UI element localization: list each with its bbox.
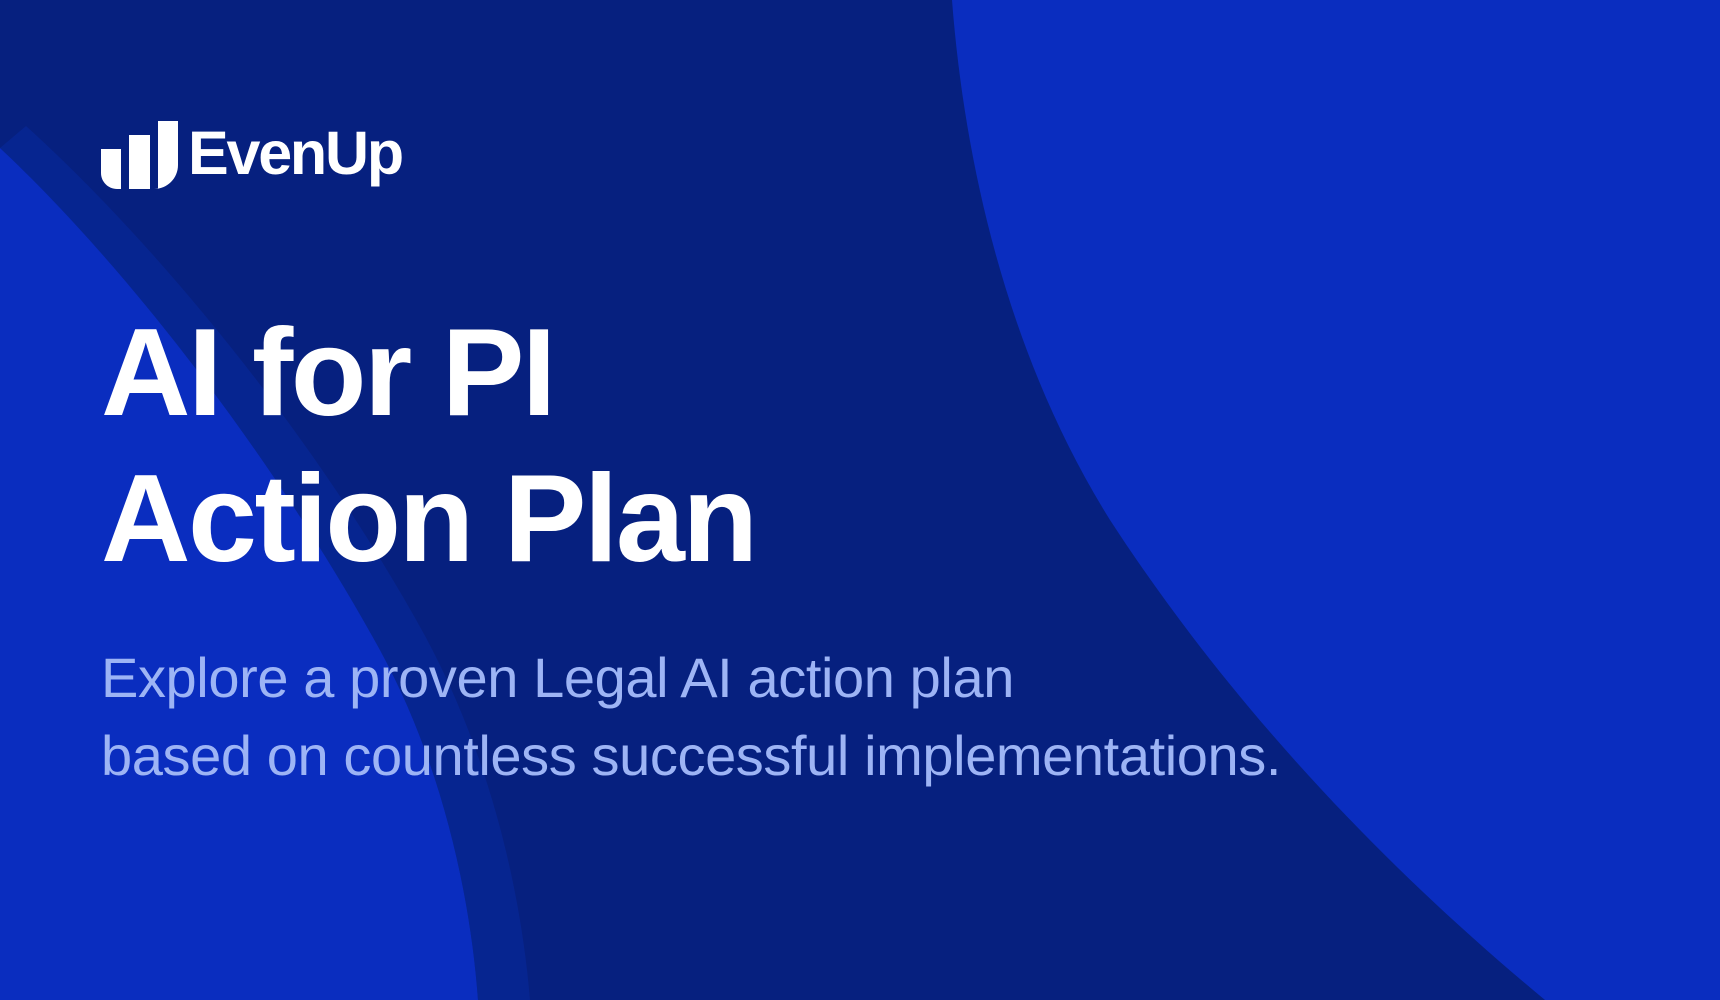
evenup-bars-mark [101,121,179,189]
hero-content: EvenUp AI for PI Action Plan Explore a p… [0,0,1720,1000]
hero-headline: AI for PI Action Plan [101,300,1201,592]
evenup-logo[interactable]: EvenUp [101,117,440,189]
headline-line-2: Action Plan [101,446,1201,592]
hero-slide: EvenUp AI for PI Action Plan Explore a p… [0,0,1720,1000]
subheadline-line-2: based on countless successful implementa… [101,717,1521,795]
headline-line-1: AI for PI [101,300,1201,446]
svg-text:EvenUp: EvenUp [188,121,402,187]
hero-subheadline: Explore a proven Legal AI action plan ba… [101,639,1521,795]
subheadline-line-1: Explore a proven Legal AI action plan [101,639,1521,717]
evenup-wordmark: EvenUp [188,121,440,189]
